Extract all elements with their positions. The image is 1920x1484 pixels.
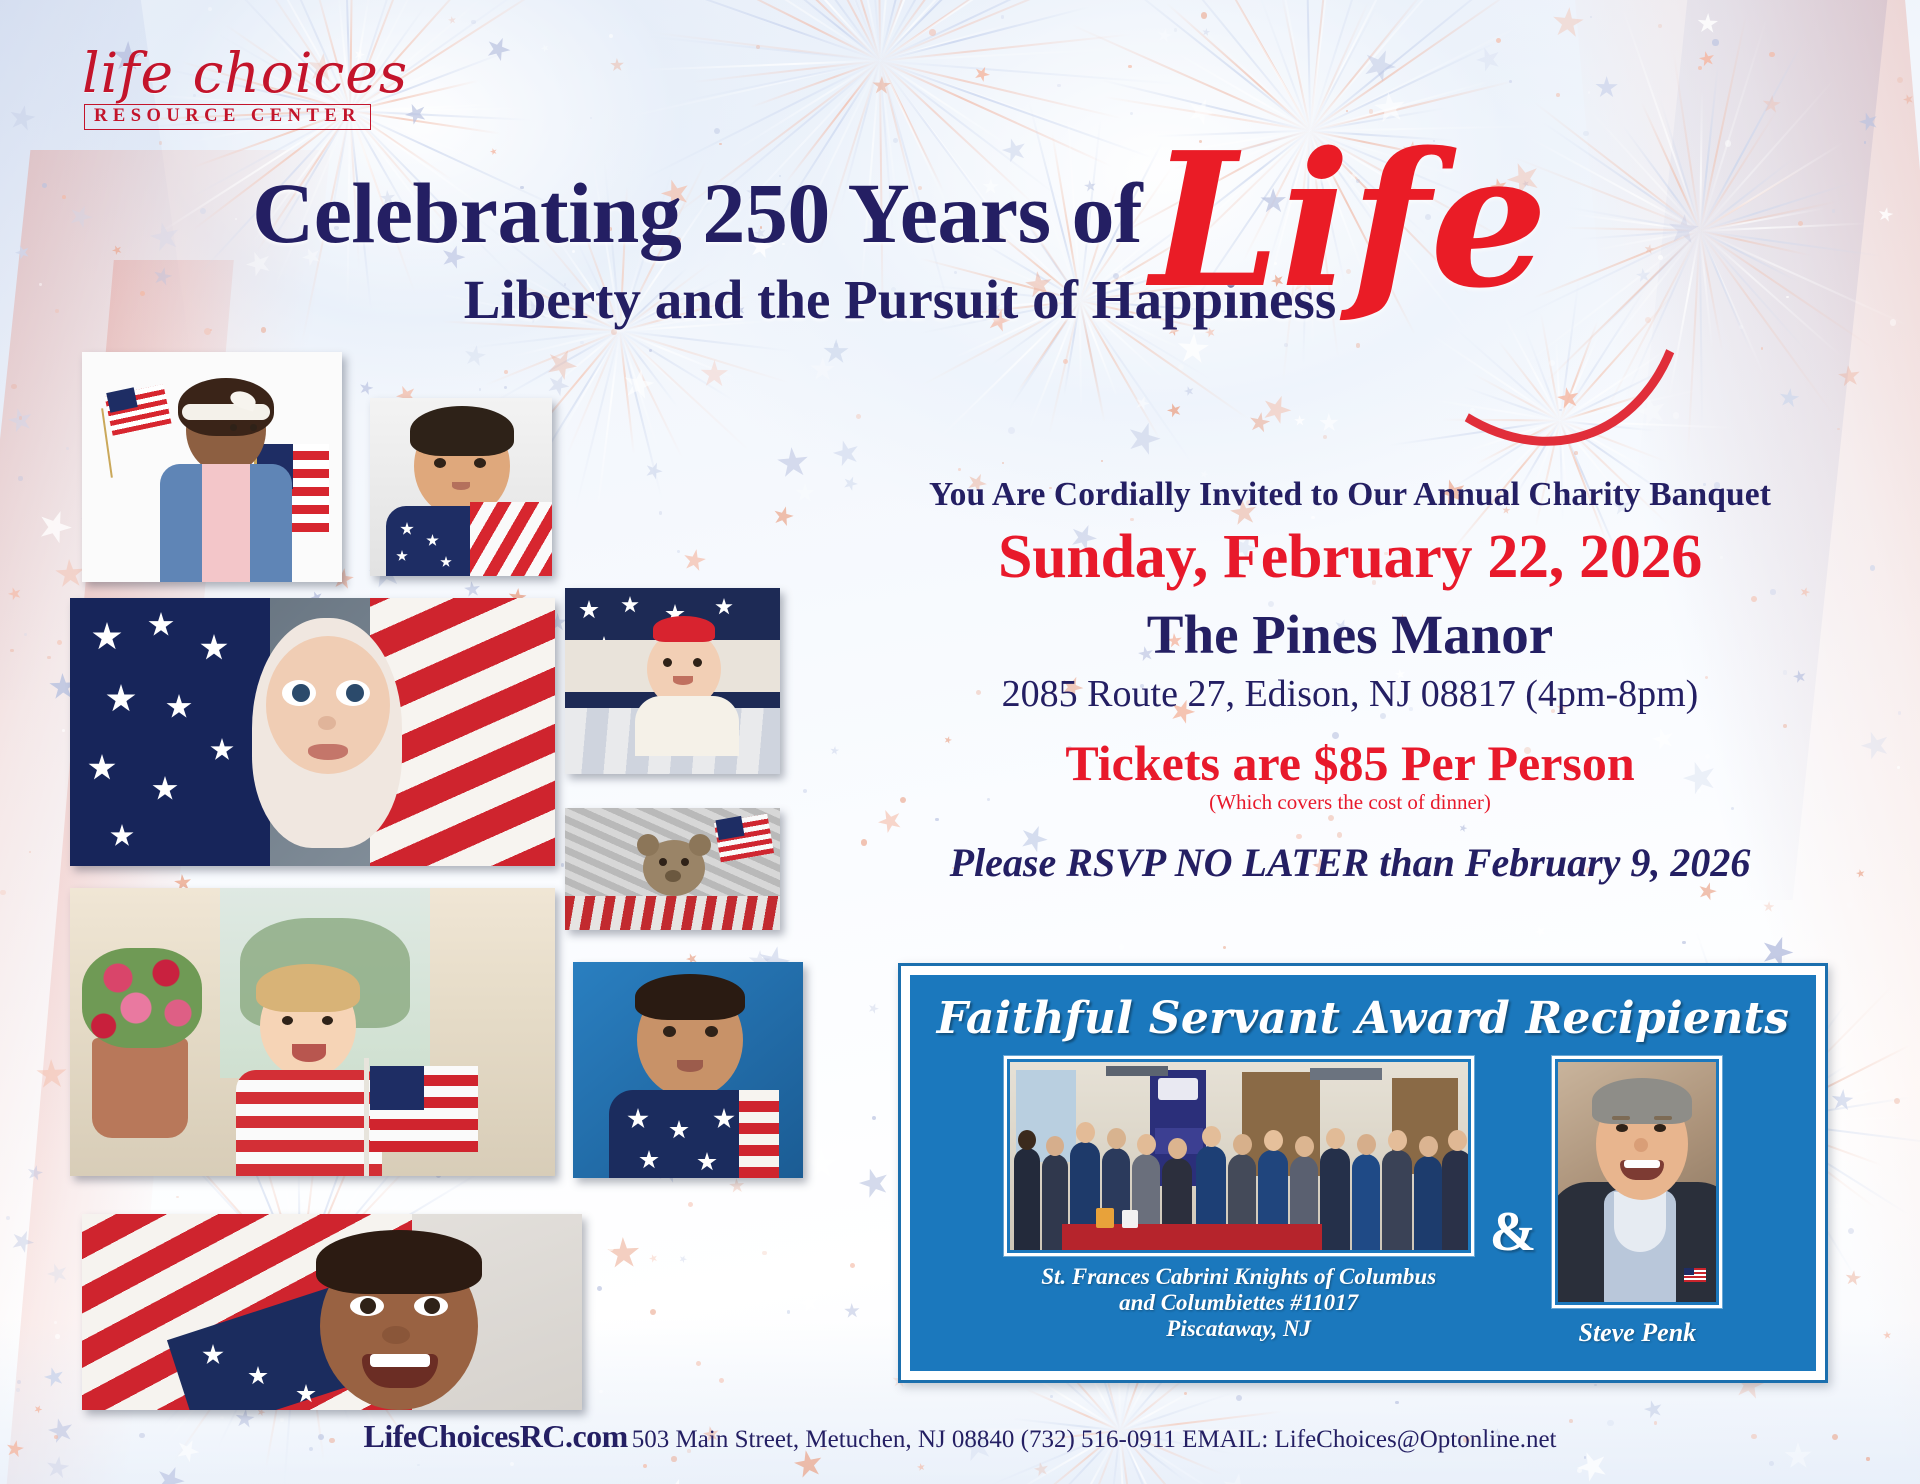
decorative-dot xyxy=(504,370,508,374)
decorative-dot xyxy=(872,1116,876,1120)
photo-toddler-denim-flag xyxy=(82,352,342,582)
decorative-star-icon xyxy=(867,1002,881,1016)
decorative-dot xyxy=(6,1216,11,1221)
decorative-dot xyxy=(1174,28,1177,31)
decorative-star-icon xyxy=(810,357,836,383)
decorative-dot xyxy=(1236,1395,1242,1401)
decorative-star-icon xyxy=(1176,332,1210,366)
award-group-caption-line-1: St. Frances Cabrini Knights of Columbus xyxy=(1004,1264,1474,1290)
decorative-star-icon xyxy=(358,379,375,396)
decorative-star-icon xyxy=(1697,12,1719,34)
decorative-dot xyxy=(1898,711,1902,715)
decorative-dot xyxy=(1594,1384,1597,1387)
decorative-star-icon xyxy=(643,459,666,482)
decorative-star-icon xyxy=(1319,413,1339,433)
decorative-dot xyxy=(1588,91,1591,94)
decorative-star-icon xyxy=(652,1474,694,1484)
decorative-star-icon xyxy=(776,446,811,481)
decorative-dot xyxy=(0,890,5,895)
decorative-dot xyxy=(29,851,31,853)
decorative-star-icon xyxy=(42,1364,67,1389)
decorative-star-icon xyxy=(482,34,514,66)
award-person-photo xyxy=(1552,1056,1722,1308)
decorative-star-icon xyxy=(539,42,549,52)
decorative-star-icon xyxy=(1555,386,1581,412)
decorative-dot xyxy=(958,468,961,471)
decorative-dot xyxy=(756,45,760,49)
decorative-dot xyxy=(1178,364,1184,370)
decorative-dot xyxy=(803,789,807,793)
poster-headline: Celebrating 250 Years ofLife Liberty and… xyxy=(0,140,1800,331)
invitation-price: Tickets are $85 Per Person xyxy=(840,734,1860,792)
decorative-dot xyxy=(11,384,17,390)
decorative-dot xyxy=(1847,902,1852,907)
decorative-star-icon xyxy=(805,1147,838,1180)
decorative-star-icon xyxy=(799,1292,821,1314)
decorative-dot xyxy=(24,633,27,636)
decorative-dot xyxy=(1769,52,1775,58)
decorative-star-icon xyxy=(830,746,840,756)
decorative-star-icon xyxy=(729,1178,746,1195)
decorative-dot xyxy=(176,1196,178,1198)
decorative-dot xyxy=(590,117,592,119)
decorative-star-icon xyxy=(462,343,487,368)
decorative-dot xyxy=(1184,1392,1187,1395)
decorative-dot xyxy=(1101,460,1103,462)
decorative-dot xyxy=(1050,1395,1053,1398)
decorative-star-icon xyxy=(1902,93,1916,107)
decorative-star-icon xyxy=(682,547,709,574)
decorative-star-icon xyxy=(1830,1088,1855,1113)
decorative-star-icon xyxy=(1258,390,1296,428)
decorative-star-icon xyxy=(1472,44,1504,76)
decorative-dot xyxy=(1658,24,1662,28)
headline-accent-word: Life xyxy=(1150,146,1548,294)
decorative-dot xyxy=(471,20,475,24)
decorative-dot xyxy=(1577,1468,1582,1473)
decorative-dot xyxy=(47,656,51,660)
decorative-dot xyxy=(510,1462,514,1466)
decorative-star-icon xyxy=(33,506,76,549)
decorative-dot xyxy=(1897,77,1903,83)
decorative-dot xyxy=(1837,428,1839,430)
decorative-star-icon xyxy=(1183,385,1196,398)
decorative-dot xyxy=(1848,1228,1854,1234)
decorative-star-icon xyxy=(36,1059,68,1091)
decorative-dot xyxy=(57,640,62,645)
decorative-dot xyxy=(787,1310,791,1314)
decorative-star-icon xyxy=(916,1463,926,1473)
decorative-star-icon xyxy=(544,370,573,399)
decorative-dot xyxy=(688,1202,693,1207)
decorative-dot xyxy=(1769,1461,1774,1466)
photo-baby-smiling-flag xyxy=(82,1214,582,1410)
decorative-star-icon xyxy=(606,1236,640,1270)
decorative-star-icon xyxy=(1156,26,1174,44)
decorative-dot xyxy=(1201,12,1208,19)
footer-website: LifeChoicesRC.com xyxy=(363,1418,627,1454)
invitation-address: 2085 Route 27, Edison, NJ 08817 (4pm-8pm… xyxy=(840,672,1860,716)
award-group-caption: St. Frances Cabrini Knights of Columbus … xyxy=(1004,1264,1474,1341)
decorative-star-icon xyxy=(1882,1330,1891,1339)
faithful-servant-award-panel: Faithful Servant Award Recipients xyxy=(898,963,1828,1383)
decorative-star-icon xyxy=(1165,401,1183,419)
decorative-star-icon xyxy=(830,437,863,470)
decorative-dot xyxy=(54,1321,57,1324)
decorative-dot xyxy=(1001,15,1004,18)
decorative-dot xyxy=(929,29,936,36)
decorative-star-icon xyxy=(1247,410,1272,435)
decorative-star-icon xyxy=(610,58,625,73)
decorative-dot xyxy=(649,349,652,352)
invitation-date: Sunday, February 22, 2026 xyxy=(840,522,1860,593)
decorative-dot xyxy=(1223,946,1226,949)
decorative-dot xyxy=(1832,209,1836,213)
decorative-star-icon xyxy=(1123,418,1165,460)
award-person-name: Steve Penk xyxy=(1552,1318,1722,1348)
decorative-dot xyxy=(1870,565,1876,571)
decorative-dot xyxy=(208,7,212,11)
decorative-star-icon xyxy=(1831,1199,1844,1212)
decorative-dot xyxy=(1057,84,1061,88)
decorative-dot xyxy=(1556,93,1560,97)
decorative-star-icon xyxy=(1697,49,1716,68)
decorative-dot xyxy=(1063,359,1069,365)
invitation-intro: You Are Cordially Invited to Our Annual … xyxy=(840,476,1860,514)
decorative-dot xyxy=(597,1286,602,1291)
award-panel-inner: Faithful Servant Award Recipients xyxy=(910,975,1816,1371)
decorative-star-icon xyxy=(1033,1460,1050,1477)
decorative-star-icon xyxy=(844,1303,861,1320)
award-group-photo xyxy=(1004,1056,1474,1256)
decorative-dot xyxy=(719,1378,724,1383)
decorative-dot xyxy=(1574,451,1578,455)
decorative-dot xyxy=(479,388,482,391)
decorative-dot xyxy=(1509,80,1512,83)
decorative-star-icon xyxy=(677,1254,688,1265)
logo-subtitle-text: RESOURCE CENTER xyxy=(84,104,371,130)
invitation-price-note: (Which covers the cost of dinner) xyxy=(840,790,1860,815)
decorative-star-icon xyxy=(6,406,36,436)
headline-row: Celebrating 250 Years ofLife xyxy=(0,140,1800,288)
decorative-dot xyxy=(1866,1457,1869,1460)
decorative-dot xyxy=(1761,347,1764,350)
decorative-dot xyxy=(1323,435,1327,439)
decorative-dot xyxy=(834,343,838,347)
decorative-dot xyxy=(762,1251,766,1255)
poster-footer: LifeChoicesRC.com 503 Main Street, Metuc… xyxy=(0,1418,1920,1455)
decorative-dot xyxy=(1496,38,1501,43)
decorative-star-icon xyxy=(872,76,892,96)
decorative-star-icon xyxy=(45,1454,71,1480)
decorative-star-icon xyxy=(770,503,795,528)
decorative-star-icon xyxy=(795,483,815,503)
decorative-dot xyxy=(17,1380,21,1384)
decorative-star-icon xyxy=(1763,900,1775,912)
decorative-dot xyxy=(1119,944,1125,950)
decorative-star-icon xyxy=(1533,925,1547,939)
decorative-dot xyxy=(856,414,861,419)
award-panel-title: Faithful Servant Award Recipients xyxy=(910,975,1816,1044)
decorative-star-icon xyxy=(623,1269,633,1279)
decorative-dot xyxy=(1894,1098,1900,1104)
decorative-star-icon xyxy=(6,585,23,602)
decorative-star-icon xyxy=(700,360,729,389)
invitation-text-block: You Are Cordially Invited to Our Annual … xyxy=(840,476,1860,886)
decorative-star-icon xyxy=(1358,44,1401,87)
decorative-dot xyxy=(1696,940,1701,945)
decorative-dot xyxy=(561,863,564,866)
decorative-dot xyxy=(1673,412,1680,419)
award-recipient-person: Steve Penk xyxy=(1552,1056,1722,1348)
decorative-dot xyxy=(1712,39,1718,45)
decorative-star-icon xyxy=(855,1165,893,1203)
decorative-star-icon xyxy=(1633,392,1671,430)
decorative-dot xyxy=(1549,360,1555,366)
headline-main-text: Celebrating 250 Years of xyxy=(252,170,1142,258)
decorative-star-icon xyxy=(1294,414,1306,426)
decorative-star-icon xyxy=(1858,727,1895,764)
decorative-star-icon xyxy=(44,1260,71,1287)
decorative-dot xyxy=(609,34,613,38)
decorative-star-icon xyxy=(620,366,656,402)
decorative-dot xyxy=(1890,319,1897,326)
decorative-dot xyxy=(671,1456,676,1461)
decorative-dot xyxy=(1470,408,1475,413)
decorative-star-icon xyxy=(1857,109,1881,133)
decorative-dot xyxy=(1698,66,1702,70)
decorative-star-icon xyxy=(447,16,457,26)
decorative-star-icon xyxy=(33,1404,44,1415)
decorative-star-icon xyxy=(151,1462,188,1484)
decorative-dot xyxy=(850,1263,855,1268)
decorative-dot xyxy=(1584,1456,1587,1459)
decorative-dot xyxy=(1002,462,1004,464)
decorative-dot xyxy=(66,447,69,450)
decorative-star-icon xyxy=(1201,27,1210,36)
decorative-dot xyxy=(1356,343,1361,348)
invitation-rsvp-deadline: Please RSVP NO LATER than February 9, 20… xyxy=(840,839,1860,886)
decorative-dot xyxy=(643,1464,647,1468)
logo-script-text: life choices xyxy=(72,46,422,101)
photo-baby-red-bow xyxy=(565,588,780,774)
decorative-star-icon xyxy=(1877,206,1895,224)
decorative-dot xyxy=(62,729,65,732)
decorative-dot xyxy=(1590,16,1592,18)
decorative-dot xyxy=(19,416,22,419)
decorative-dot xyxy=(659,511,662,514)
photo-baby-wrapped-flag xyxy=(70,598,555,866)
award-ampersand: & xyxy=(1480,1200,1547,1264)
decorative-star-icon xyxy=(647,1253,658,1264)
decorative-dot xyxy=(580,341,584,345)
decorative-star-icon xyxy=(1778,386,1801,409)
poster-canvas: life choices RESOURCE CENTER Celebrating… xyxy=(0,0,1920,1484)
decorative-dot xyxy=(301,1199,305,1203)
decorative-dot xyxy=(55,1334,60,1339)
decorative-dot xyxy=(18,476,22,480)
decorative-dot xyxy=(599,1390,603,1394)
decorative-dot xyxy=(10,649,14,653)
photo-toddler-porch-flag xyxy=(70,888,555,1176)
award-group-caption-line-2: and Columbiettes #11017 xyxy=(1004,1290,1474,1316)
decorative-star-icon xyxy=(463,581,482,600)
decorative-dot xyxy=(1284,343,1288,347)
decorative-dot xyxy=(1395,1401,1398,1404)
decorative-dot xyxy=(677,550,680,553)
decorative-dot xyxy=(1130,112,1133,115)
organization-logo: life choices RESOURCE CENTER xyxy=(72,46,422,130)
decorative-dot xyxy=(1128,65,1131,68)
decorative-dot xyxy=(1583,131,1589,137)
photo-teddy-bear-flag xyxy=(565,808,780,930)
decorative-star-icon xyxy=(1133,394,1152,413)
decorative-dot xyxy=(16,1388,20,1392)
award-recipients-row: St. Frances Cabrini Knights of Columbus … xyxy=(910,1056,1816,1348)
decorative-star-icon xyxy=(1844,1269,1862,1287)
decorative-star-icon xyxy=(823,338,849,364)
decorative-dot xyxy=(608,1245,614,1251)
photo-baby-flag-scarf xyxy=(370,398,552,576)
decorative-dot xyxy=(504,386,507,389)
footer-contact-details: 503 Main Street, Metuchen, NJ 08840 (732… xyxy=(632,1426,1557,1453)
decorative-star-icon xyxy=(1761,94,1782,115)
decorative-star-icon xyxy=(1595,76,1618,99)
award-recipient-group: St. Frances Cabrini Knights of Columbus … xyxy=(1004,1056,1474,1341)
decorative-star-icon xyxy=(25,1163,44,1182)
decorative-star-icon xyxy=(1837,364,1862,389)
decorative-dot xyxy=(650,1309,656,1315)
decorative-star-icon xyxy=(1220,1471,1254,1484)
decorative-dot xyxy=(417,1464,419,1466)
decorative-star-icon xyxy=(8,1226,38,1256)
decorative-dot xyxy=(1897,766,1900,769)
decorative-dot xyxy=(1559,409,1562,412)
invitation-venue: The Pines Manor xyxy=(840,603,1860,666)
photo-baby-blue-backdrop xyxy=(573,962,803,1178)
decorative-dot xyxy=(1008,427,1015,434)
decorative-dot xyxy=(1682,941,1686,945)
decorative-star-icon xyxy=(541,344,582,385)
decorative-star-icon xyxy=(972,63,993,84)
decorative-star-icon xyxy=(6,103,37,134)
award-group-caption-line-3: Piscataway, NJ xyxy=(1004,1316,1474,1342)
decorative-dot xyxy=(714,128,721,135)
decorative-star-icon xyxy=(1550,5,1585,40)
decorative-dot xyxy=(1864,141,1866,143)
decorative-dot xyxy=(696,1361,701,1366)
